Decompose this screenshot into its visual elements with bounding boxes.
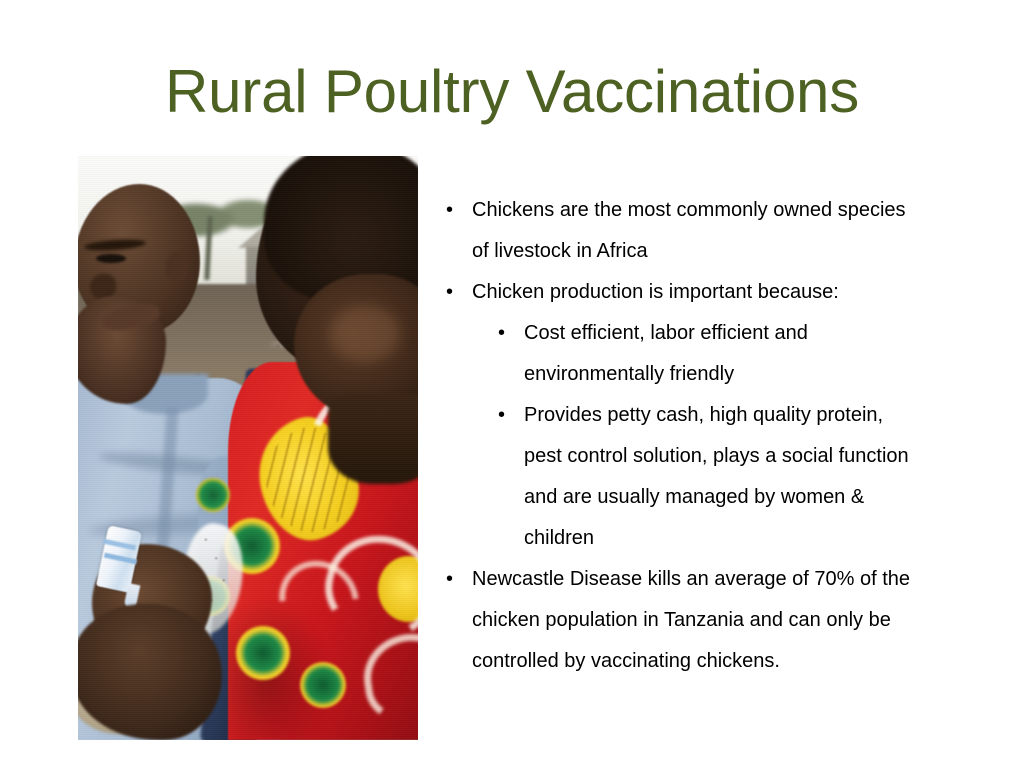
bullet-text: Chicken production is important because: [472,272,924,313]
bullet-item: • Chicken production is important becaus… [440,272,960,313]
photo-kanga-green-medallion [196,478,230,512]
bullet-text: Chickens are the most commonly owned spe… [472,190,924,272]
photo-kanga-green-medallion [300,662,346,708]
slide-body-text: • Chickens are the most commonly owned s… [440,190,960,682]
page-title: Rural Poultry Vaccinations [0,57,1024,127]
bullet-marker-icon: • [492,313,524,354]
photo-hand-holding-chicken [78,604,222,740]
slide: Rural Poultry Vaccinations [0,0,1024,768]
sub-bullet-item: • Provides petty cash, high quality prot… [440,395,960,559]
bullet-marker-icon: • [440,559,472,600]
photo-scene [78,156,418,740]
bullet-text: Provides petty cash, high quality protei… [524,395,916,559]
bullet-text: Cost efficient, labor efficient and envi… [524,313,916,395]
slide-photo [78,156,418,740]
bullet-marker-icon: • [492,395,524,436]
bullet-item: • Newcastle Disease kills an average of … [440,559,960,682]
photo-man-ear [166,252,188,282]
photo-man-eye [96,254,126,263]
bullet-marker-icon: • [440,272,472,313]
photo-kanga-green-medallion [236,626,290,680]
bullet-marker-icon: • [440,190,472,231]
sub-bullet-item: • Cost efficient, labor efficient and en… [440,313,960,395]
photo-woman-neck [328,394,418,484]
bullet-text: Newcastle Disease kills an average of 70… [472,559,924,682]
bullet-item: • Chickens are the most commonly owned s… [440,190,960,272]
photo-woman-cheek [330,306,400,362]
